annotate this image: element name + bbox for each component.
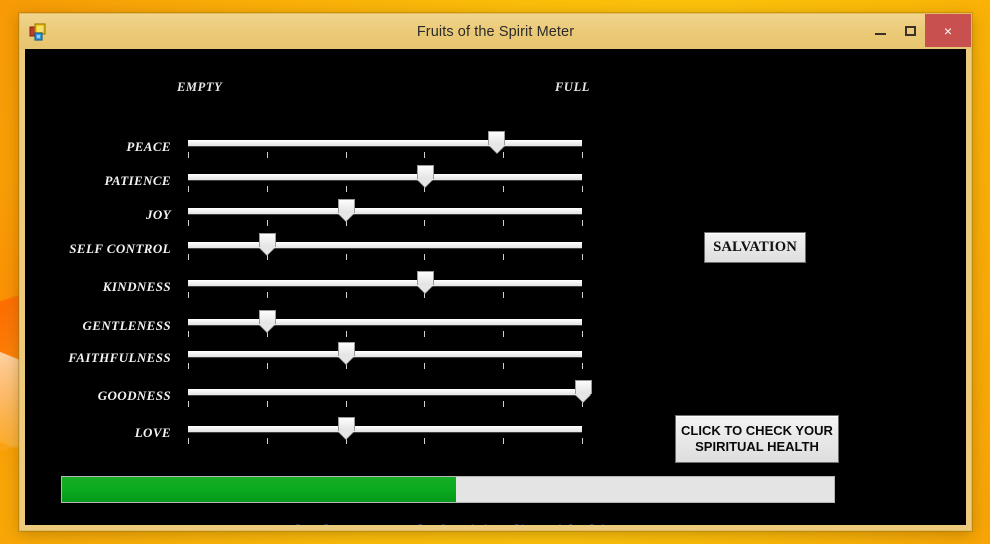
slider-track[interactable] — [188, 174, 582, 180]
slider-tick — [267, 220, 268, 226]
slider-track[interactable] — [188, 319, 582, 325]
slider-tick — [188, 331, 189, 337]
progressbar-fill — [62, 477, 456, 502]
slider-tick — [267, 363, 268, 369]
check-health-line2: SPIRITUAL HEALTH — [681, 439, 833, 455]
slider-tick — [503, 331, 504, 337]
slider-track[interactable] — [188, 351, 582, 357]
slider-tick — [582, 438, 583, 444]
scale-label-full: FULL — [555, 80, 590, 95]
slider-tick — [188, 220, 189, 226]
slider-label-kindness: KINDNESS — [25, 279, 171, 295]
slider-tick — [346, 401, 347, 407]
application-window: Fruits of the Spirit Meter × EMPTY FULL … — [19, 13, 972, 531]
slider-tick — [424, 438, 425, 444]
minimize-button[interactable] — [865, 14, 895, 47]
window-title: Fruits of the Spirit Meter — [20, 24, 971, 40]
slider-tick — [582, 152, 583, 158]
slider-tick — [582, 254, 583, 260]
slider-tick — [582, 363, 583, 369]
slider-tick — [424, 152, 425, 158]
slider-label-patience: PATIENCE — [25, 173, 171, 189]
slider-tick — [267, 152, 268, 158]
slider-patience[interactable] — [183, 168, 587, 194]
slider-track[interactable] — [188, 389, 582, 395]
slider-tick — [582, 186, 583, 192]
title-bar[interactable]: Fruits of the Spirit Meter × — [20, 14, 971, 49]
slider-tick — [424, 254, 425, 260]
slider-tick — [424, 220, 425, 226]
check-spiritual-health-label: CLICK TO CHECK YOUR SPIRITUAL HEALTH — [681, 423, 833, 455]
slider-ticks — [188, 292, 582, 299]
slider-thumb[interactable] — [488, 131, 505, 153]
slider-ticks — [188, 254, 582, 261]
check-spiritual-health-button[interactable]: CLICK TO CHECK YOUR SPIRITUAL HEALTH — [675, 415, 839, 463]
slider-thumb[interactable] — [338, 342, 355, 364]
close-button[interactable]: × — [925, 14, 971, 47]
slider-tick — [424, 363, 425, 369]
slider-tick — [346, 331, 347, 337]
slider-tick — [424, 331, 425, 337]
slider-track[interactable] — [188, 140, 582, 146]
slider-ticks — [188, 438, 582, 445]
slider-tick — [503, 220, 504, 226]
slider-tick — [503, 438, 504, 444]
slider-tick — [346, 254, 347, 260]
slider-tick — [503, 186, 504, 192]
slider-tick — [346, 292, 347, 298]
slider-label-gentleness: GENTLENESS — [25, 318, 171, 334]
slider-ticks — [188, 152, 582, 159]
spiritual-health-progressbar — [61, 476, 835, 503]
slider-thumb[interactable] — [575, 380, 592, 402]
slider-track[interactable] — [188, 426, 582, 432]
slider-thumb[interactable] — [338, 199, 355, 221]
window-controls: × — [865, 14, 971, 49]
slider-ticks — [188, 331, 582, 338]
slider-tick — [188, 186, 189, 192]
slider-ticks — [188, 363, 582, 370]
slider-love[interactable] — [183, 420, 587, 446]
slider-self-control[interactable] — [183, 236, 587, 262]
slider-label-joy: JOY — [25, 207, 171, 223]
slider-peace[interactable] — [183, 134, 587, 160]
slider-thumb[interactable] — [417, 165, 434, 187]
slider-tick — [582, 331, 583, 337]
slider-gentleness[interactable] — [183, 313, 587, 339]
app-icon — [29, 23, 47, 41]
slider-tick — [582, 292, 583, 298]
slider-tick — [188, 438, 189, 444]
slider-tick — [503, 292, 504, 298]
slider-label-goodness: GOODNESS — [25, 388, 171, 404]
slider-ticks — [188, 186, 582, 193]
salvation-button-label: SALVATION — [713, 239, 797, 256]
maximize-button[interactable] — [895, 14, 925, 47]
slider-track[interactable] — [188, 242, 582, 248]
slider-tick — [503, 254, 504, 260]
slider-goodness[interactable] — [183, 383, 587, 409]
slider-tick — [267, 438, 268, 444]
slider-tick — [267, 401, 268, 407]
slider-label-love: LOVE — [25, 425, 171, 441]
slider-thumb[interactable] — [259, 310, 276, 332]
slider-tick — [267, 186, 268, 192]
slider-tick — [188, 401, 189, 407]
slider-tick — [582, 220, 583, 226]
slider-thumb[interactable] — [417, 271, 434, 293]
slider-tick — [267, 292, 268, 298]
check-health-line1: CLICK TO CHECK YOUR — [681, 423, 833, 439]
slider-tick — [424, 401, 425, 407]
salvation-button[interactable]: SALVATION — [704, 232, 806, 263]
slider-tick — [346, 186, 347, 192]
slider-tick — [503, 363, 504, 369]
slider-label-peace: PEACE — [25, 139, 171, 155]
slider-tick — [346, 152, 347, 158]
slider-joy[interactable] — [183, 202, 587, 228]
slider-thumb[interactable] — [338, 417, 355, 439]
slider-tick — [188, 363, 189, 369]
slider-tick — [503, 401, 504, 407]
slider-track[interactable] — [188, 280, 582, 286]
slider-label-self-control: SELF CONTROL — [25, 241, 171, 257]
scale-label-empty: EMPTY — [177, 80, 222, 95]
slider-tick — [188, 254, 189, 260]
slider-thumb[interactable] — [259, 233, 276, 255]
slider-ticks — [188, 401, 582, 408]
tagline-text: Check your Level of Spirituality with th… — [25, 522, 966, 525]
minimize-icon — [875, 33, 886, 35]
maximize-icon — [905, 26, 916, 36]
slider-tick — [188, 292, 189, 298]
slider-tick — [188, 152, 189, 158]
slider-faithfulness[interactable] — [183, 345, 587, 371]
slider-label-faithfulness: FAITHFULNESS — [25, 350, 171, 366]
slider-ticks — [188, 220, 582, 227]
form-client-area: EMPTY FULL PEACEPATIENCEJOYSELF CONTROLK… — [25, 49, 966, 525]
slider-kindness[interactable] — [183, 274, 587, 300]
slider-track[interactable] — [188, 208, 582, 214]
